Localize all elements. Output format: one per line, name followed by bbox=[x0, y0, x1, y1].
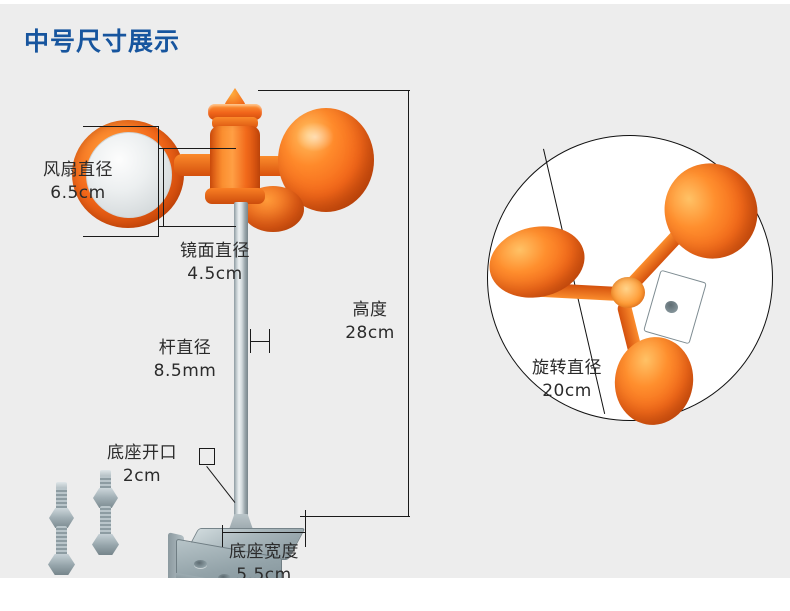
height-ext-top bbox=[258, 90, 410, 91]
bolt-nut bbox=[49, 508, 74, 528]
fan-diameter-ext-top bbox=[83, 126, 159, 127]
fan-diameter-line bbox=[158, 126, 159, 237]
mirror-diameter-line bbox=[163, 148, 164, 227]
rotor-top-view-inset: 旋转直径 20cm bbox=[487, 135, 773, 421]
infographic-canvas: 中号尺寸展示 bbox=[0, 4, 790, 578]
base-opening-mark-right bbox=[214, 448, 215, 464]
label-height: 高度 28cm bbox=[330, 299, 410, 345]
label-base-width: 底座宽度 5.5cm bbox=[204, 541, 324, 578]
label-base-opening: 底座开口 2cm bbox=[82, 442, 202, 488]
rod-diameter-line bbox=[250, 341, 270, 342]
label-rotation-diameter: 旋转直径 20cm bbox=[497, 357, 637, 403]
bolt-head bbox=[48, 554, 75, 575]
bolt-nut bbox=[93, 488, 118, 508]
product-dimension-infographic: 中号尺寸展示 bbox=[0, 0, 790, 611]
bolt-head bbox=[92, 534, 119, 555]
label-rod-diameter: 杆直径 8.5mm bbox=[125, 337, 245, 383]
bottom-white-strip bbox=[0, 578, 790, 611]
label-fan-diameter: 风扇直径 6.5cm bbox=[18, 159, 138, 205]
page-title: 中号尺寸展示 bbox=[24, 22, 180, 58]
fan-diameter-ext-bottom bbox=[83, 236, 159, 237]
rotor-hub-center bbox=[611, 277, 645, 308]
cup-highlight bbox=[296, 122, 334, 152]
height-ext-bottom bbox=[300, 516, 410, 517]
mirror-diameter-ext-top bbox=[158, 148, 236, 149]
base-width-line bbox=[222, 532, 306, 533]
mirror-diameter-ext-bottom bbox=[158, 226, 236, 227]
label-mirror-diameter: 镜面直径 4.5cm bbox=[155, 240, 275, 286]
